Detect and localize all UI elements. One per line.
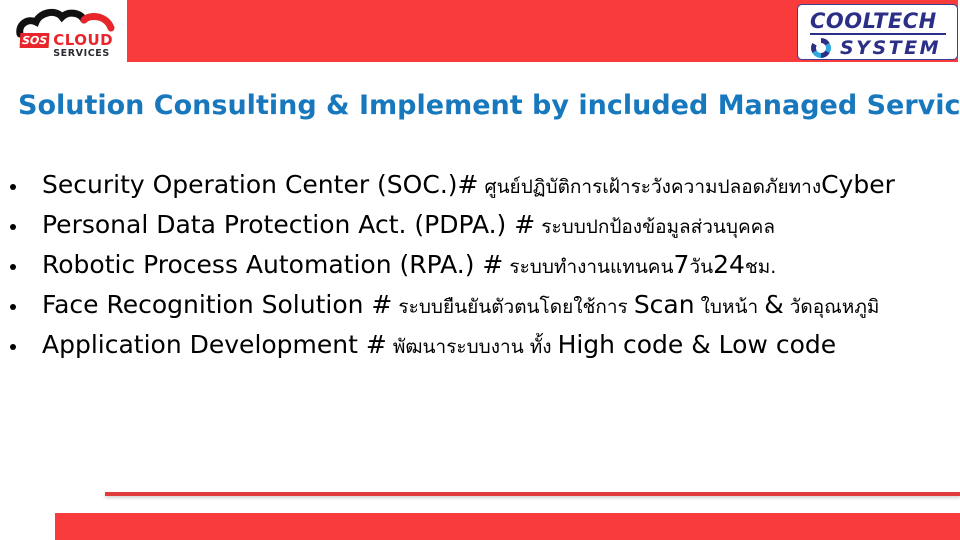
- system-word: SYSTEM: [840, 37, 941, 59]
- sos-cloud-word: CLOUD: [53, 33, 113, 48]
- bullet-en-lead: Security Operation Center (SOC.)#: [42, 170, 478, 199]
- bullet-th-trail: วัดอุณหภูมิ: [784, 296, 880, 318]
- bullet-dot-icon: [10, 184, 16, 190]
- bullet-text: Application Development # พัฒนาระบบงาน ท…: [42, 328, 836, 364]
- footer-accent-band: [55, 513, 960, 540]
- bullet-en-mid: 7: [674, 250, 690, 279]
- bullet-th: ระบบยืนยันตัวตนโดยใช้การ: [392, 296, 633, 318]
- bullet-en-trail: High code & Low code: [558, 330, 837, 359]
- bullet-en-lead: Face Recognition Solution #: [42, 290, 392, 319]
- list-item: Application Development # พัฒนาระบบงาน ท…: [0, 326, 960, 366]
- bullet-en-trail: Cyber: [821, 170, 895, 199]
- bullet-th: ระบบปกป้องข้อมูลส่วนบุคคล: [535, 216, 775, 238]
- bullet-text: Security Operation Center (SOC.)# ศูนย์ป…: [42, 168, 895, 204]
- bullet-th-mid: วัน: [689, 256, 713, 278]
- bullet-en-mid2: &: [764, 290, 784, 319]
- bullet-dot-icon: [10, 304, 16, 310]
- cooltech-system-logo: COOLTECH SYSTEM: [797, 4, 958, 60]
- bullet-en-lead: Personal Data Protection Act. (PDPA.) #: [42, 210, 535, 239]
- bullet-dot-icon: [10, 264, 16, 270]
- page-title: Solution Consulting & Implement by inclu…: [18, 88, 948, 124]
- bullet-en-mid: Scan: [634, 290, 695, 319]
- list-item: Robotic Process Automation (RPA.) # ระบบ…: [0, 246, 960, 286]
- list-item: Face Recognition Solution # ระบบยืนยันตั…: [0, 286, 960, 326]
- cooltech-word: COOLTECH: [810, 9, 937, 33]
- bullet-th: ระบบทำงานแทนคน: [503, 256, 673, 278]
- sos-badge: SOS: [20, 33, 50, 48]
- bullet-th-mid: ใบหน้า: [695, 296, 765, 318]
- bullet-text: Face Recognition Solution # ระบบยืนยันตั…: [42, 288, 879, 324]
- footer-accent-rule: [105, 492, 960, 496]
- list-item: Personal Data Protection Act. (PDPA.) # …: [0, 206, 960, 246]
- sos-cloud-services-logo: SOS CLOUD SERVICES: [14, 6, 124, 62]
- bullet-dot-icon: [10, 344, 16, 350]
- bullet-th-trail: ชม.: [745, 256, 776, 278]
- bullet-en-mid2: 24: [713, 250, 745, 279]
- service-bullet-list: Security Operation Center (SOC.)# ศูนย์ป…: [0, 166, 960, 366]
- bullet-en-lead: Application Development #: [42, 330, 387, 359]
- bullet-text: Personal Data Protection Act. (PDPA.) # …: [42, 208, 775, 244]
- bullet-en-lead: Robotic Process Automation (RPA.) #: [42, 250, 503, 279]
- bullet-th: พัฒนาระบบงาน ทั้ง: [387, 336, 558, 358]
- sos-services-word: SERVICES: [53, 49, 113, 59]
- swirl-icon: [807, 36, 835, 60]
- sos-wordmark: SOS CLOUD SERVICES: [20, 33, 113, 59]
- list-item: Security Operation Center (SOC.)# ศูนย์ป…: [0, 166, 960, 206]
- bullet-dot-icon: [10, 224, 16, 230]
- bullet-th: ศูนย์ปฏิบัติการเฝ้าระวังความปลอดภัยทาง: [478, 176, 821, 198]
- cooltech-divider: [810, 33, 946, 35]
- bullet-text: Robotic Process Automation (RPA.) # ระบบ…: [42, 248, 776, 284]
